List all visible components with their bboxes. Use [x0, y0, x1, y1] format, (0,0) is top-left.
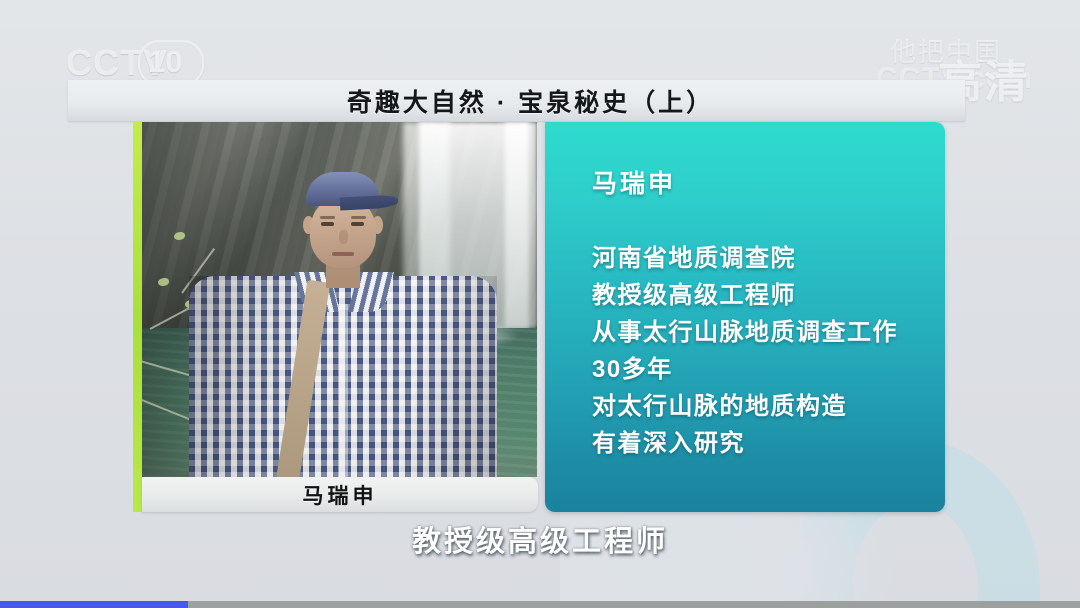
photo-subject-eye-right — [351, 222, 364, 226]
photo-subject-eye-left — [321, 222, 334, 226]
photo-scene — [142, 122, 537, 477]
info-panel-name: 马瑞申 — [592, 164, 676, 200]
photo-subject — [245, 172, 443, 477]
info-panel-credentials: 河南省地质调查院 教授级高级工程师 从事太行山脉地质调查工作 30多年 对太行山… — [592, 240, 931, 462]
green-accent-bar — [133, 122, 142, 512]
interviewee-photo-card: 马瑞申 — [133, 122, 537, 512]
channel-number: 10 — [148, 44, 182, 80]
program-title: 奇趣大自然 · 宝泉秘史（上） — [68, 83, 965, 119]
broadcast-subtitle: 教授级高级工程师 — [0, 518, 1080, 560]
info-panel-credential-line: 从事太行山脉地质调查工作 — [592, 314, 931, 351]
photo-leaf — [174, 232, 185, 240]
photo-caption-bar: 马瑞申 — [142, 477, 538, 512]
interviewee-info-panel: 马瑞申 河南省地质调查院 教授级高级工程师 从事太行山脉地质调查工作 30多年 … — [545, 122, 945, 512]
playback-progress-fill — [0, 601, 188, 608]
photo-waterfall-edge — [505, 122, 537, 328]
interviewee-photo — [142, 122, 537, 477]
playback-progress-bar[interactable] — [0, 601, 1080, 608]
info-panel-credential-line: 对太行山脉的地质构造 — [592, 388, 931, 425]
photo-subject-brow-right — [351, 216, 366, 219]
photo-subject-placket — [338, 304, 348, 477]
photo-caption-name: 马瑞申 — [142, 477, 538, 512]
info-panel-credential-line: 30多年 — [592, 351, 931, 388]
photo-subject-cap — [306, 172, 380, 206]
photo-subject-brow-left — [320, 216, 335, 219]
info-panel-credential-line: 河南省地质调查院 — [592, 240, 931, 277]
tv-broadcast-frame: CCTV 10 科 教 他把中国 CCTV.com 高清 奇趣大自然 · 宝泉秘… — [0, 0, 1080, 608]
photo-subject-nose — [339, 230, 348, 244]
info-panel-credential-line: 有着深入研究 — [592, 425, 931, 462]
photo-subject-mouth — [332, 252, 354, 256]
program-title-bar: 奇趣大自然 · 宝泉秘史（上） — [68, 80, 965, 121]
info-panel-credential-line: 教授级高级工程师 — [592, 277, 931, 314]
